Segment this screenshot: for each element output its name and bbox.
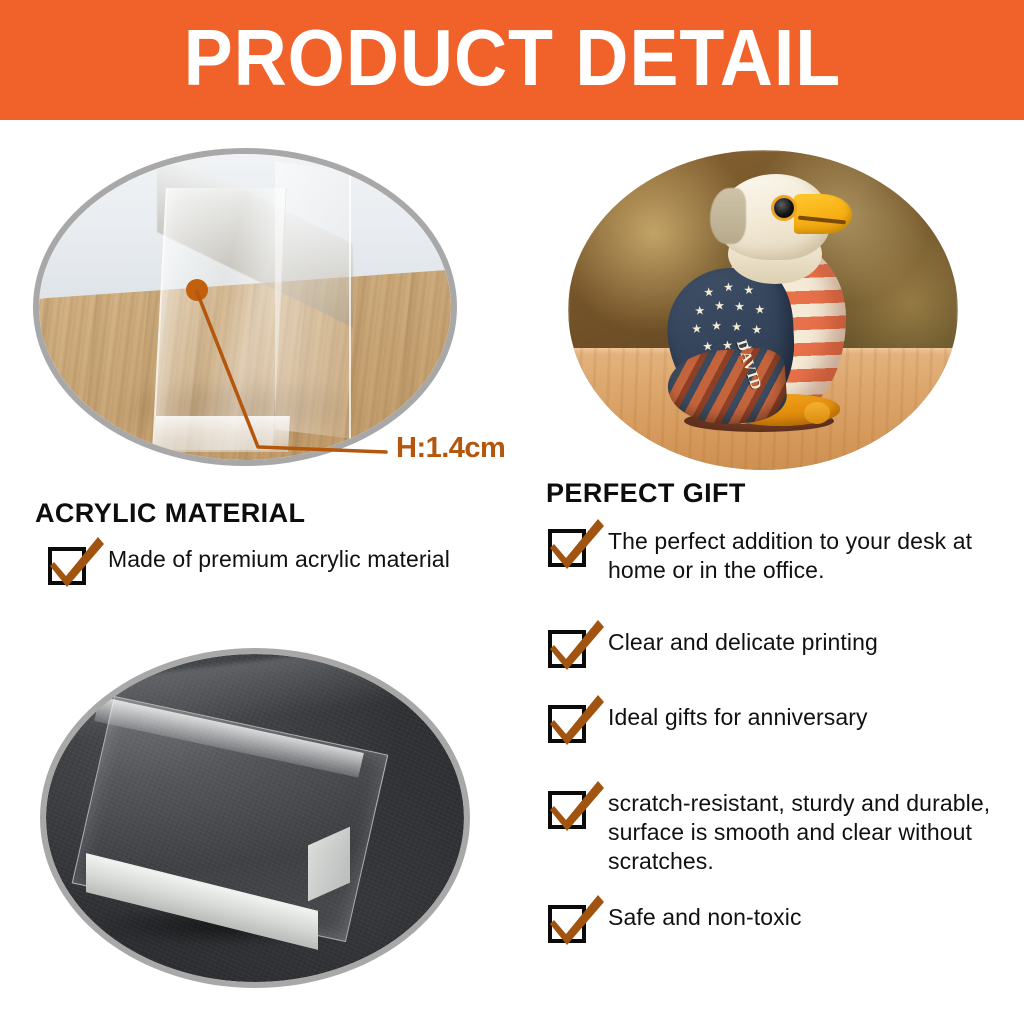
photo-acrylic-block-edge <box>33 148 457 466</box>
list-item-label: Clear and delicate printing <box>608 628 878 657</box>
checkmark-icon <box>548 893 606 947</box>
checkmark-icon <box>548 693 606 747</box>
eagle-crest <box>710 188 746 244</box>
checkmark-icon <box>548 618 606 672</box>
list-item: Clear and delicate printing <box>548 628 878 668</box>
photo-acrylic-block-edge-inner <box>39 154 451 460</box>
checkbox-icon[interactable] <box>548 630 586 668</box>
list-item: scratch-resistant, sturdy and durable, s… <box>548 789 1024 876</box>
photo-acrylic-block-slate-inner <box>46 654 464 982</box>
photo-eagle-figurine-inner: ★ ★ ★ ★ ★ ★ ★ ★ ★ ★ ★ ★ ★ ★ DAVID <box>568 150 958 470</box>
list-item: Made of premium acrylic material <box>48 545 450 585</box>
list-item-label: scratch-resistant, sturdy and durable, s… <box>608 789 1024 876</box>
list-item: The perfect addition to your desk at hom… <box>548 527 1024 585</box>
checkbox-icon[interactable] <box>548 705 586 743</box>
page-title: PRODUCT DETAIL <box>183 18 841 98</box>
checkbox-icon[interactable] <box>548 529 586 567</box>
checkmark-icon <box>48 535 106 589</box>
checkbox-icon[interactable] <box>548 791 586 829</box>
list-item-label: The perfect addition to your desk at hom… <box>608 527 1024 585</box>
list-item-label: Safe and non-toxic <box>608 903 802 932</box>
measurement-dot-icon <box>186 279 208 301</box>
photo-acrylic-block-slate <box>40 648 470 988</box>
list-item-label: Made of premium acrylic material <box>108 545 450 574</box>
eagle-beak <box>794 194 852 234</box>
measurement-label: H:1.4cm <box>396 432 505 465</box>
checkmark-icon <box>548 779 606 833</box>
header-banner: PRODUCT DETAIL <box>0 0 1024 120</box>
eagle-eye-icon <box>774 198 794 218</box>
eagle-figurine: ★ ★ ★ ★ ★ ★ ★ ★ ★ ★ ★ ★ ★ ★ DAVID <box>664 172 880 442</box>
acrylic-block-base <box>154 416 290 452</box>
photo-eagle-figurine: ★ ★ ★ ★ ★ ★ ★ ★ ★ ★ ★ ★ ★ ★ DAVID <box>568 150 958 470</box>
checkbox-icon[interactable] <box>48 547 86 585</box>
acrylic-block-front-edge <box>152 188 287 450</box>
checkmark-icon <box>548 517 606 571</box>
section-title-gift: PERFECT GIFT <box>546 478 746 509</box>
list-item: Safe and non-toxic <box>548 903 802 943</box>
section-title-acrylic: ACRYLIC MATERIAL <box>35 498 305 529</box>
acrylic-block-right-face <box>275 161 351 438</box>
checkbox-icon[interactable] <box>548 905 586 943</box>
list-item: Ideal gifts for anniversary <box>548 703 868 743</box>
list-item-label: Ideal gifts for anniversary <box>608 703 868 732</box>
